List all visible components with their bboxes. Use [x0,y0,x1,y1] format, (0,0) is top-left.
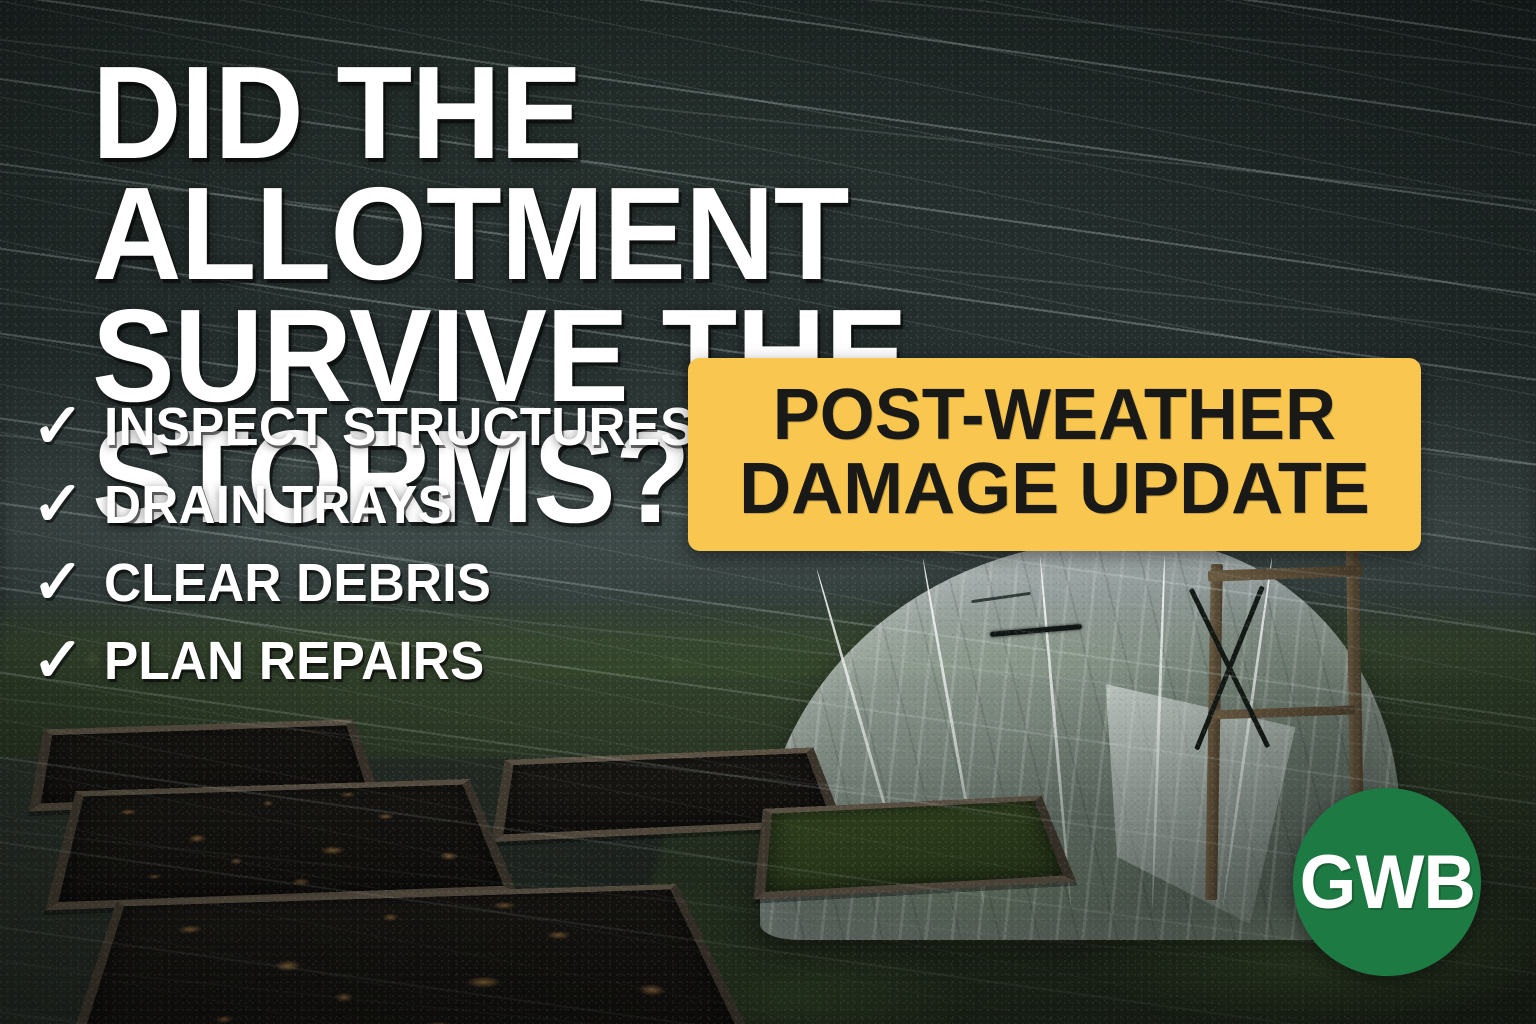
checklist-item-label: INSPECT STRUCTURES [104,396,695,458]
bed-timber-frame [754,796,1077,900]
list-item: ✓ INSPECT STRUCTURES [30,388,726,466]
list-item: ✓ DRAIN TRAYS [30,466,726,544]
check-icon: ✓ [30,630,86,692]
check-icon: ✓ [30,396,86,458]
checklist: ✓ INSPECT STRUCTURES ✓ DRAIN TRAYS ✓ CLE… [30,388,726,700]
raised-bed-planted [754,796,1077,900]
checklist-item-label: CLEAR DEBRIS [104,552,491,614]
brand-logo-text: GWB [1299,839,1474,926]
brand-logo: GWB [1293,788,1481,976]
badge-line-primary: POST-WEATHER [773,381,1336,450]
list-item: ✓ PLAN REPAIRS [30,622,726,700]
poster: DID THE ALLOTMENT SURVIVE THE STORMS? ✓ … [0,0,1536,1024]
bed-timber-frame [62,884,755,1024]
badge-line-secondary: DAMAGE UPDATE [739,455,1370,524]
list-item: ✓ CLEAR DEBRIS [30,544,726,622]
check-icon: ✓ [30,552,86,614]
checklist-item-label: DRAIN TRAYS [104,474,452,536]
checklist-item-label: PLAN REPAIRS [104,630,484,692]
status-badge: POST-WEATHER DAMAGE UPDATE [688,358,1421,551]
check-icon: ✓ [30,474,86,536]
raised-bed [62,884,755,1024]
